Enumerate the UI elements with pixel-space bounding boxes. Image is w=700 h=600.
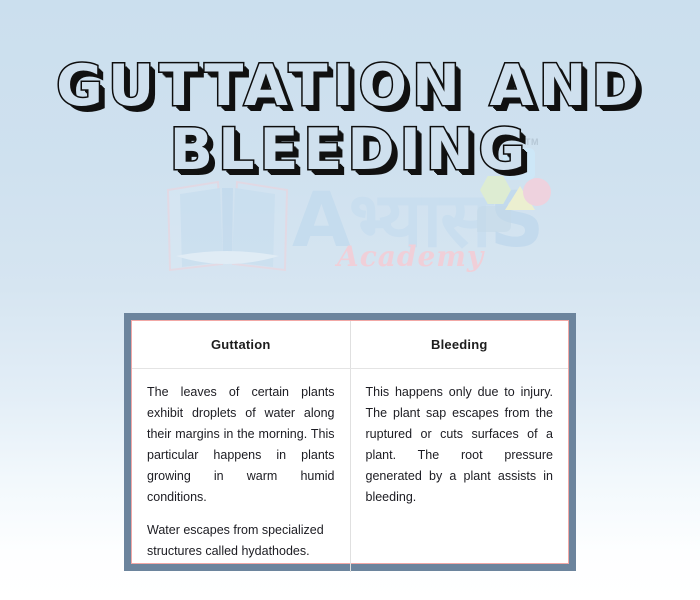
table-cell-bleeding: This happens only due to injury. The pla… (350, 368, 568, 572)
table-body: The leaves of certain plants exhibit dro… (132, 368, 568, 572)
comparison-table-inner: Guttation Bleeding The leaves of certain… (131, 320, 569, 564)
page-title-line-1: GUTTATION AND (0, 54, 700, 118)
watermark-brand-devanagari: भ्यास (349, 175, 490, 264)
page-title: GUTTATION AND BLEEDING (0, 54, 700, 182)
speech-bubble-icon (477, 206, 511, 232)
comparison-table: Guttation Bleeding The leaves of certain… (132, 321, 568, 572)
bleeding-paragraph-1: This happens only due to injury. The pla… (366, 382, 554, 508)
table-header-bleeding: Bleeding (350, 321, 568, 368)
watermark-brand-a: A (292, 175, 349, 264)
table-cell-guttation: The leaves of certain plants exhibit dro… (132, 368, 350, 572)
table-header-guttation: Guttation (132, 321, 350, 368)
watermark-tagline: Academy (337, 240, 484, 273)
table-header-row: Guttation Bleeding (132, 321, 568, 368)
watermark-brand-s: S (490, 175, 543, 264)
open-book-icon (160, 172, 295, 282)
table-header: Guttation Bleeding (132, 321, 568, 368)
table-row: The leaves of certain plants exhibit dro… (132, 368, 568, 572)
comparison-table-frame: Guttation Bleeding The leaves of certain… (124, 313, 576, 571)
page-title-line-2: BLEEDING (0, 118, 700, 182)
yellow-triangle-icon (505, 186, 535, 210)
guttation-paragraph-1: The leaves of certain plants exhibit dro… (147, 382, 335, 508)
guttation-paragraph-2: Water escapes from specialized structure… (147, 520, 335, 562)
watermark-brand: Aभ्यासS (292, 182, 542, 258)
